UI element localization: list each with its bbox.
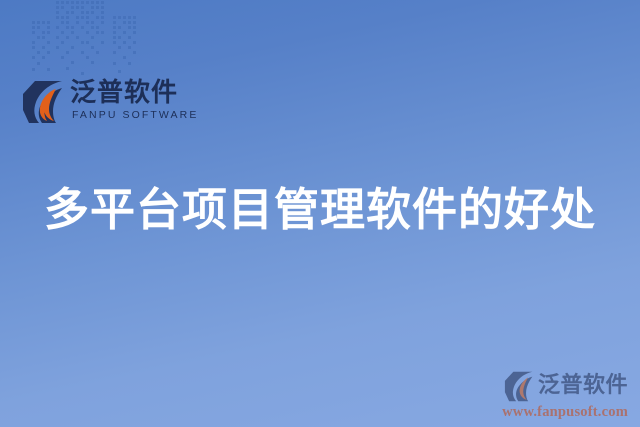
page-title: 多平台项目管理软件的好处: [0, 182, 640, 238]
brand-logo: 泛普软件 FANPU SOFTWARE: [22, 80, 198, 124]
brand-name-cn: 泛普软件: [70, 80, 198, 107]
watermark-logo-row: 泛普软件: [502, 371, 628, 402]
brand-name-en: FANPU SOFTWARE: [72, 108, 198, 124]
pixel-matrix-decoration: [28, 0, 153, 78]
brand-logo-text: 泛普软件 FANPU SOFTWARE: [70, 80, 198, 124]
fanpu-logo-mark: [22, 80, 64, 124]
site-watermark: 泛普软件 www.fanpusoft.com: [502, 371, 628, 420]
watermark-name-cn: 泛普软件: [538, 375, 628, 397]
fanpu-watermark-mark: [504, 371, 534, 402]
watermark-url: www.fanpusoft.com: [502, 405, 628, 420]
promo-banner: 泛普软件 FANPU SOFTWARE 多平台项目管理软件的好处 泛普软件 ww…: [0, 0, 640, 427]
